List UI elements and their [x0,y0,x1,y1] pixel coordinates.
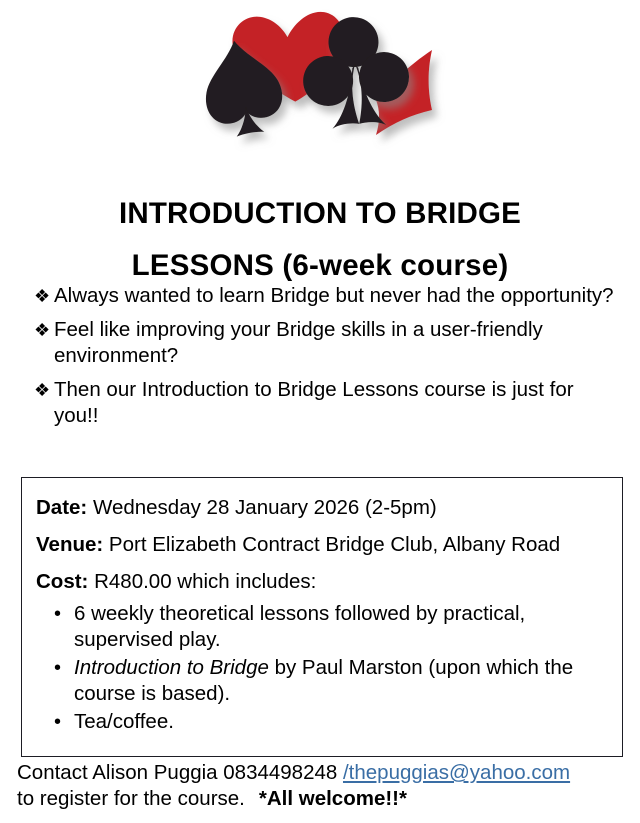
includes-item-text: Tea/coffee. [74,710,174,733]
diamond-bullet-icon: ❖ [34,283,50,309]
event-details-box: Date: Wednesday 28 January 2026 (2-5pm) … [21,477,623,757]
card-suits-svg [180,6,460,161]
cost-row: Cost: R480.00 which includes: [22,569,622,595]
includes-item-italic: Introduction to Bridge [74,656,269,679]
intro-question-list: ❖ Always wanted to learn Bridge but neve… [34,283,614,429]
includes-item-text: 6 weekly theoretical lessons followed by… [74,602,525,651]
date-row: Date: Wednesday 28 January 2026 (2-5pm) [22,495,622,521]
venue-value: Port Elizabeth Contract Bridge Club, Alb… [109,533,560,556]
email-link[interactable]: /thepuggias@yahoo.com [343,761,570,784]
intro-item: ❖ Then our Introduction to Bridge Lesson… [34,377,614,429]
cost-label: Cost: [36,570,88,593]
includes-item: • Introduction to Bridge by Paul Marston… [74,655,622,707]
bullet-dot-icon: • [54,709,61,735]
includes-item: • Tea/coffee. [74,709,622,735]
date-label: Date: [36,496,87,519]
includes-list: • 6 weekly theoretical lessons followed … [22,601,622,735]
page-title: INTRODUCTION TO BRIDGE LESSONS (6-week c… [0,188,640,292]
footer-line-2: to register for the course.*All welcome!… [17,786,627,812]
intro-item: ❖ Always wanted to learn Bridge but neve… [34,283,614,309]
welcome-text: *All welcome!!* [259,787,407,810]
includes-item: • 6 weekly theoretical lessons followed … [74,601,622,653]
footer-line-1: Contact Alison Puggia 0834498248 /thepug… [17,760,627,786]
register-text: to register for the course. [17,787,245,810]
intro-item: ❖ Feel like improving your Bridge skills… [34,317,614,369]
card-suits-logo [0,6,640,166]
venue-label: Venue: [36,533,103,556]
title-line-1: INTRODUCTION TO BRIDGE [0,188,640,240]
date-value: Wednesday 28 January 2026 (2-5pm) [93,496,437,519]
footer-contact: Contact Alison Puggia 0834498248 /thepug… [17,760,627,812]
cost-value: R480.00 which includes: [94,570,316,593]
bullet-dot-icon: • [54,655,61,681]
venue-row: Venue: Port Elizabeth Contract Bridge Cl… [22,532,622,558]
diamond-bullet-icon: ❖ [34,377,50,403]
intro-item-text: Feel like improving your Bridge skills i… [54,318,543,367]
intro-item-text: Always wanted to learn Bridge but never … [54,284,614,307]
intro-item-text: Then our Introduction to Bridge Lessons … [54,378,574,427]
bullet-dot-icon: • [54,601,61,627]
contact-text: Contact Alison Puggia 0834498248 [17,761,343,784]
diamond-bullet-icon: ❖ [34,317,50,343]
